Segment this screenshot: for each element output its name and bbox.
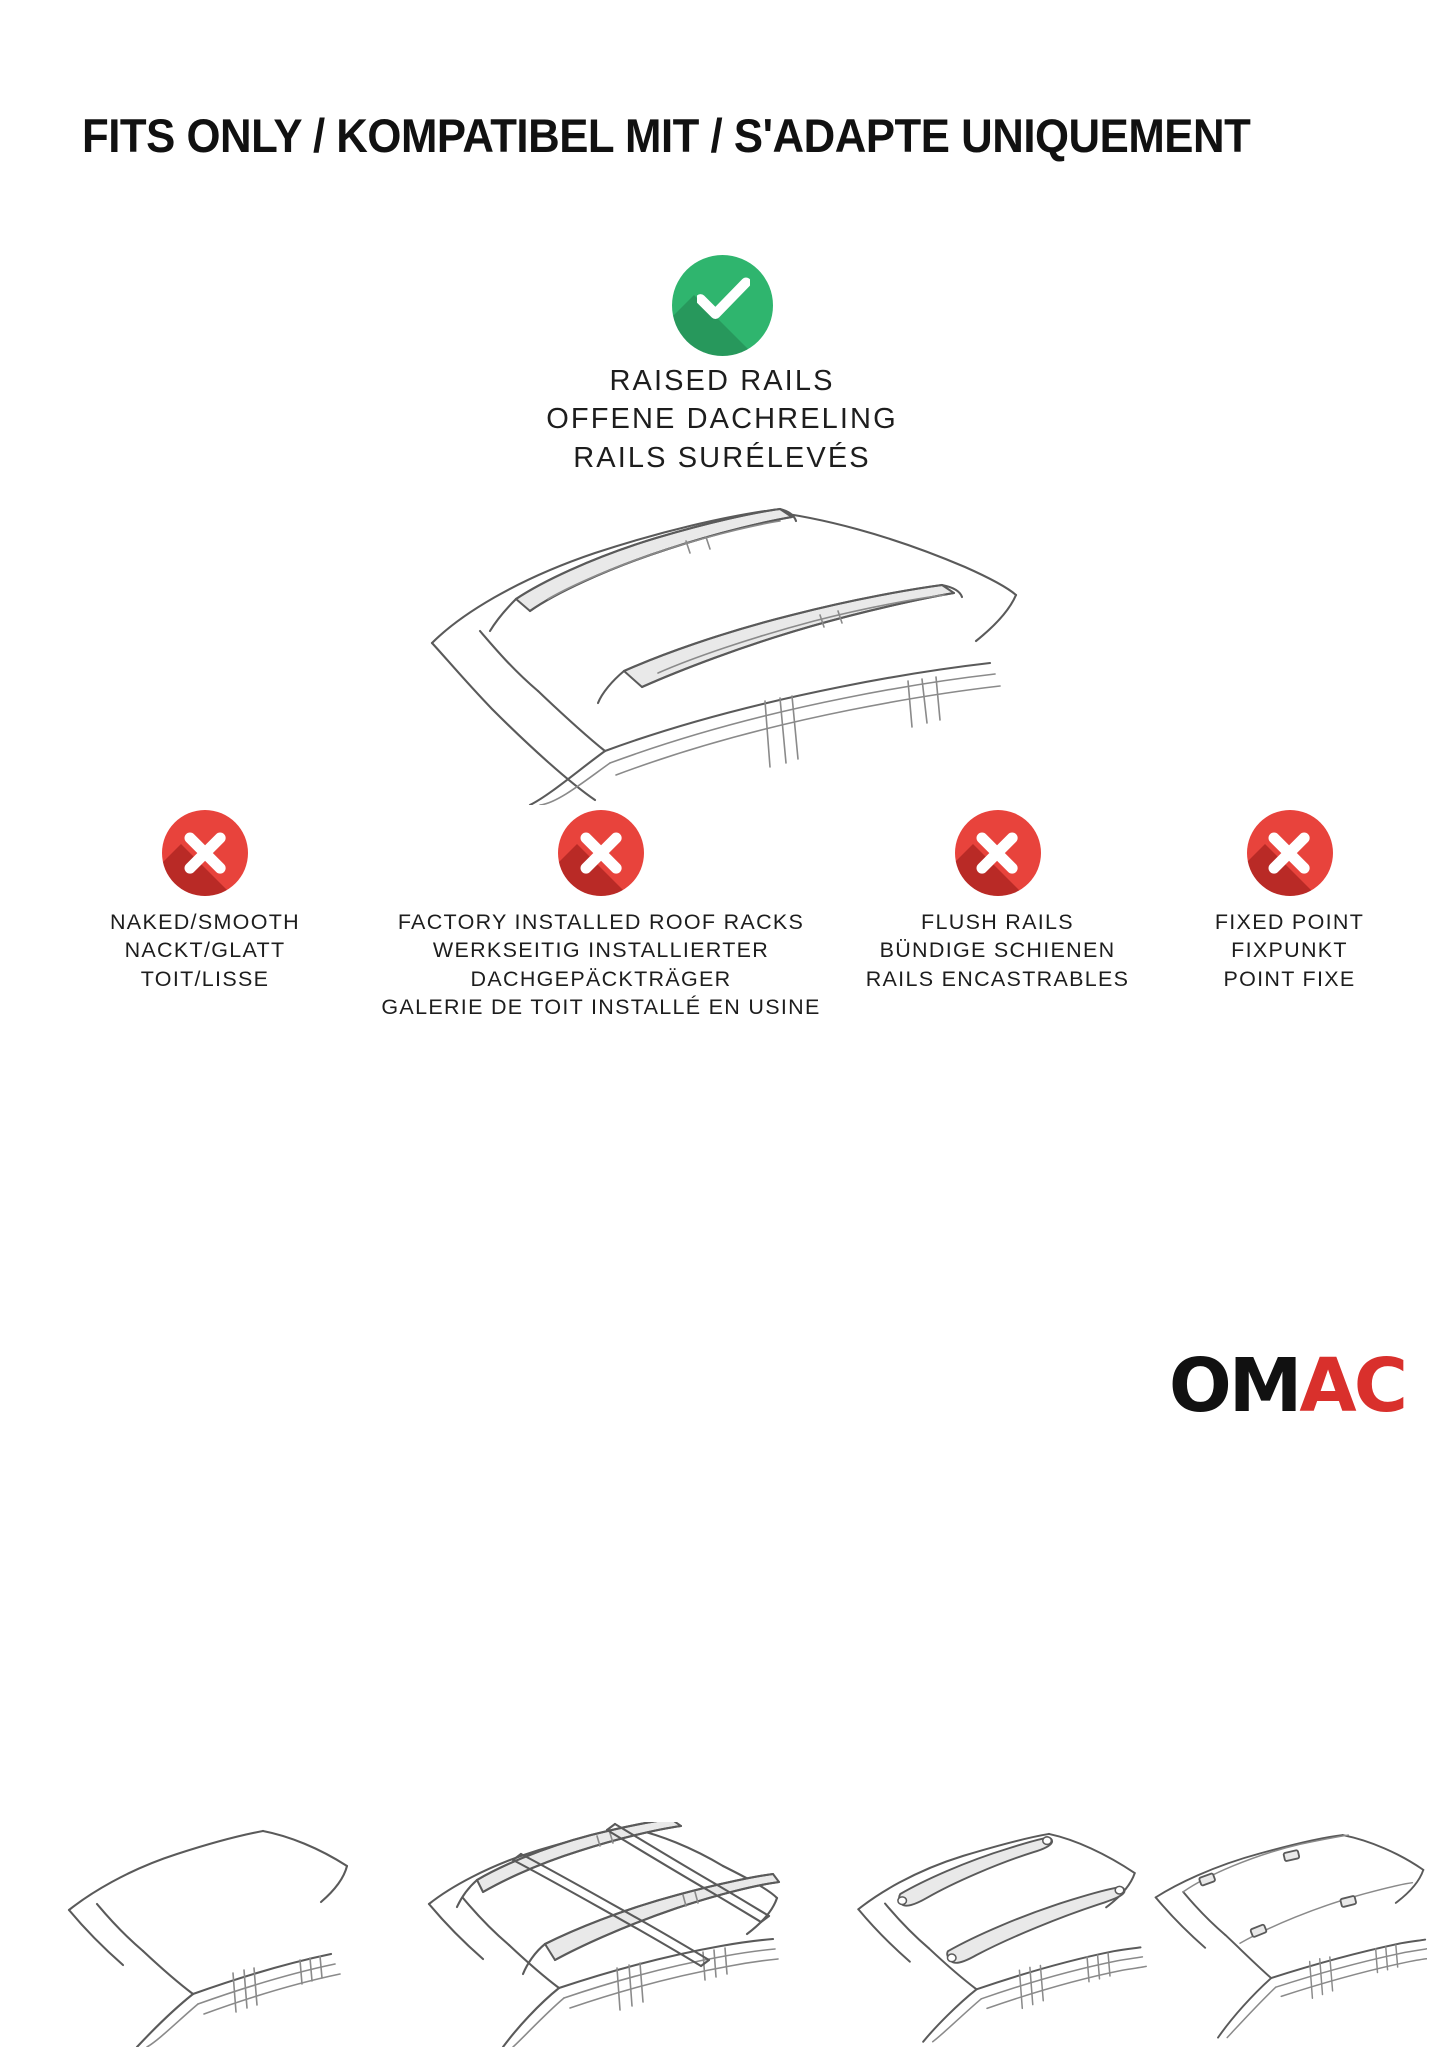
logo-text-red: AC: [1299, 1343, 1405, 1429]
x-glyph: [577, 829, 625, 877]
car-roof-factory-roof-racks-illustration: [370, 1822, 832, 2047]
car-roof-fixed-point-illustration: [1152, 1822, 1427, 2047]
incompatible-label: NAKED/SMOOTH NACKT/GLATT TOIT/LISSE: [55, 908, 355, 993]
page-title: FITS ONLY / KOMPATIBEL MIT / S'ADAPTE UN…: [82, 108, 1282, 163]
car-roof-with-raised-rails-illustration: [420, 495, 1020, 805]
compatible-label: RAISED RAILS OFFENE DACHRELING RAILS SUR…: [422, 362, 1022, 477]
car-roof-naked-smooth-illustration: [55, 1822, 355, 2047]
car-roof-flush-rails-illustration: [845, 1822, 1150, 2047]
compatible-badge: [672, 255, 773, 356]
x-glyph: [181, 829, 229, 877]
incompatible-label: FACTORY INSTALLED ROOF RACKS WERKSEITIG …: [370, 908, 832, 1022]
logo-text-black: OM: [1169, 1343, 1300, 1429]
omac-logo: OMAC: [1169, 1349, 1405, 1423]
incompatible-label: FLUSH RAILS BÜNDIGE SCHIENEN RAILS ENCAS…: [845, 908, 1150, 993]
x-circle-icon: [955, 810, 1041, 896]
x-circle-icon: [558, 810, 644, 896]
x-glyph: [973, 829, 1021, 877]
x-glyph: [1265, 829, 1313, 877]
x-circle-icon: [162, 810, 248, 896]
incompatible-label: FIXED POINT FIXPUNKT POINT FIXE: [1152, 908, 1427, 993]
infographic-page: FITS ONLY / KOMPATIBEL MIT / S'ADAPTE UN…: [0, 0, 1445, 1445]
x-circle-icon: [1247, 810, 1333, 896]
checkmark-glyph: [697, 275, 750, 321]
